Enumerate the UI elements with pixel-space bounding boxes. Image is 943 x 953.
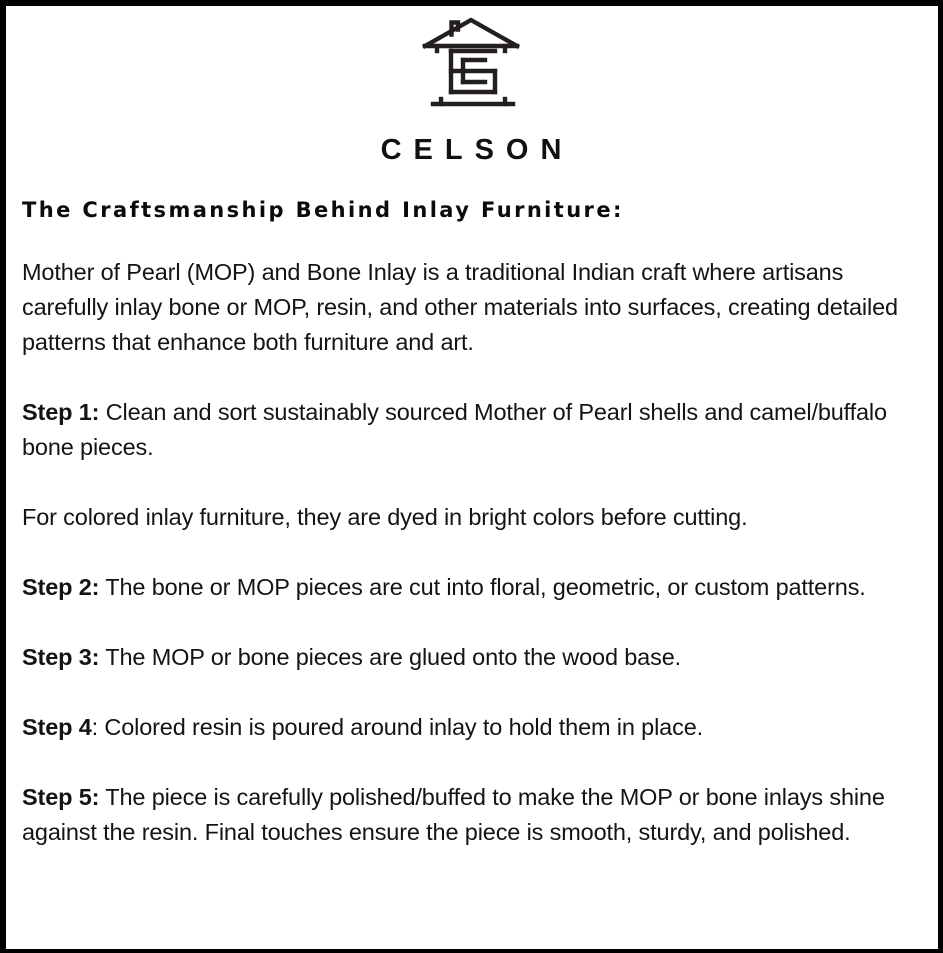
paragraph-lead: Step 2:: [22, 574, 99, 600]
paragraph-step-3: Step 3: The MOP or bone pieces are glued…: [22, 640, 918, 675]
paragraph-note-colored: For colored inlay furniture, they are dy…: [22, 500, 918, 535]
paragraph-text: For colored inlay furniture, they are dy…: [22, 504, 747, 530]
paragraph-text: Mother of Pearl (MOP) and Bone Inlay is …: [22, 259, 898, 355]
body-copy: Mother of Pearl (MOP) and Bone Inlay is …: [22, 255, 926, 850]
paragraph-step-1: Step 1: Clean and sort sustainably sourc…: [22, 395, 918, 465]
paragraph-intro: Mother of Pearl (MOP) and Bone Inlay is …: [22, 255, 918, 360]
paragraph-step-5: Step 5: The piece is carefully polished/…: [22, 780, 918, 850]
brand-block: CELSON: [16, 14, 926, 165]
paragraph-step-2: Step 2: The bone or MOP pieces are cut i…: [22, 570, 918, 605]
paragraph-text: Clean and sort sustainably sourced Mothe…: [22, 399, 887, 460]
house-monogram-logo-icon: [419, 16, 523, 114]
poster-card: CELSON The Craftsmanship Behind Inlay Fu…: [0, 0, 943, 953]
paragraph-step-4: Step 4: Colored resin is poured around i…: [22, 710, 918, 745]
paragraph-text: The MOP or bone pieces are glued onto th…: [99, 644, 681, 670]
paragraph-lead: Step 4: [22, 714, 92, 740]
poster-inner: CELSON The Craftsmanship Behind Inlay Fu…: [6, 6, 938, 949]
paragraph-text: Colored resin is poured around inlay to …: [98, 714, 703, 740]
paragraph-lead: Step 1:: [22, 399, 99, 425]
brand-wordmark: CELSON: [16, 136, 926, 165]
paragraph-lead: Step 5:: [22, 784, 99, 810]
paragraph-lead: Step 3:: [22, 644, 99, 670]
paragraph-text: The bone or MOP pieces are cut into flor…: [99, 574, 865, 600]
paragraph-text: The piece is carefully polished/buffed t…: [22, 784, 885, 845]
page-title: The Craftsmanship Behind Inlay Furniture…: [22, 198, 926, 223]
